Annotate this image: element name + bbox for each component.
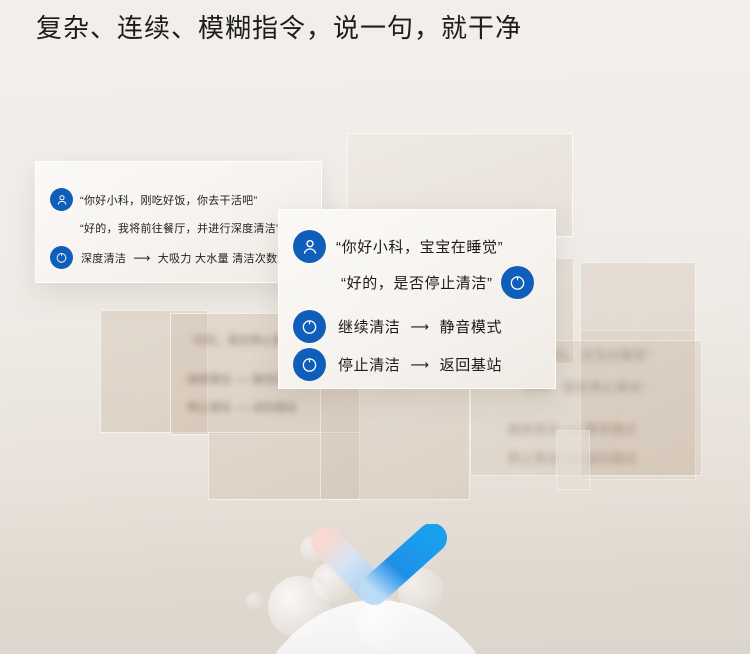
ghost-option-2: 停止清洁 ⟶ 返回基站: [187, 399, 297, 415]
card-front-assistant-row: “好的，是否停止清洁”: [341, 266, 534, 299]
bokeh-circle: [246, 592, 264, 610]
card-back-action-mode: 深度清洁: [81, 250, 126, 266]
option-row-stop[interactable]: 停止清洁 ⟶ 返回基站: [293, 348, 502, 381]
option-row-continue[interactable]: 继续清洁 ⟶ 静音模式: [293, 310, 502, 343]
conversation-card-current: “你好小科，宝宝在睡觉” “好的，是否停止清洁” 继续清洁: [278, 209, 556, 389]
card-back-assistant-row: “好的，我将前往餐厅，并进行深度清洁”: [80, 216, 309, 239]
card-back-user-text: “你好小科，刚吃好饭，你去干活吧”: [80, 192, 257, 208]
robot-vacuum-icon: [501, 266, 534, 299]
arrow-icon: ⟶: [133, 251, 151, 265]
card-front-user-row: “你好小科，宝宝在睡觉”: [293, 230, 503, 263]
option-continue-label: 继续清洁: [338, 316, 400, 337]
robot-vacuum-icon: [293, 310, 326, 343]
card-back-assistant-text: “好的，我将前往餐厅，并进行深度清洁”: [80, 220, 280, 236]
arrow-icon: ⟶: [410, 319, 429, 335]
robot-vacuum-icon: [50, 246, 73, 269]
option-stop-label: 停止清洁: [338, 354, 400, 375]
robot-vacuum-icon: [293, 348, 326, 381]
user-avatar-icon: [293, 230, 326, 263]
card-back-action-params: 大吸力 大水量 清洁次数*2: [158, 250, 289, 266]
ghost-card-center-lower: [320, 370, 470, 500]
ghost-card-sliver: [556, 430, 590, 490]
card-stage: “好的，是否停止清洁” 继续清洁 ⟶ 静音模式 停止清洁 ⟶ 返回基站 “你好小…: [0, 0, 750, 540]
card-back-action-row: 深度清洁 ⟶ 大吸力 大水量 清洁次数*2: [50, 246, 288, 269]
y-shape-brand-logo: [286, 524, 466, 654]
arrow-icon: ⟶: [410, 357, 429, 373]
option-continue-result: 静音模式: [440, 316, 502, 337]
card-front-assistant-text: “好的，是否停止清洁”: [341, 272, 493, 293]
option-stop-result: 返回基站: [440, 354, 502, 375]
card-back-user-row: “你好小科，刚吃好饭，你去干活吧”: [50, 188, 257, 211]
user-avatar-icon: [50, 188, 73, 211]
card-front-user-text: “你好小科，宝宝在睡觉”: [336, 236, 503, 257]
page-root: { "page": { "headline": "复杂、连续、模糊指令，说一句，…: [0, 0, 750, 654]
brand-logo-area: [0, 504, 750, 654]
